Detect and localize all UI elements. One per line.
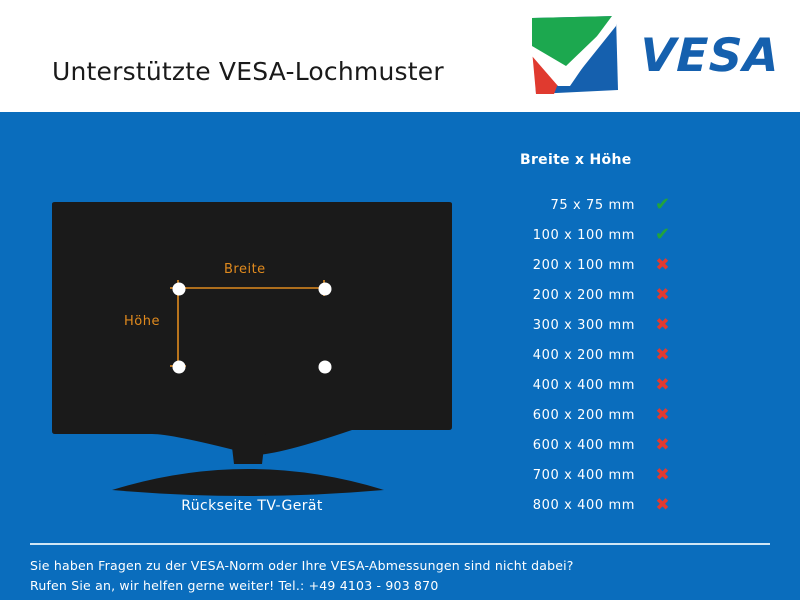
- pattern-size-label: 600 x 400 mm: [500, 438, 635, 453]
- vesa-pattern-table: Breite x Höhe 75 x 75 mm✔100 x 100 mm✔20…: [500, 152, 700, 520]
- tv-neck: [230, 430, 266, 464]
- cross-icon: ✖: [635, 316, 690, 334]
- mounting-hole-bottom-left: [173, 361, 186, 374]
- content-panel: Breite Höhe Rückseite TV-Gerät Breite x …: [0, 112, 800, 600]
- pattern-size-label: 600 x 200 mm: [500, 408, 635, 423]
- footer-line-2: Rufen Sie an, wir helfen gerne weiter! T…: [30, 576, 770, 596]
- table-row: 600 x 400 mm✖: [500, 430, 700, 460]
- pattern-size-label: 800 x 400 mm: [500, 498, 635, 513]
- table-row: 800 x 400 mm✖: [500, 490, 700, 520]
- cross-icon: ✖: [635, 256, 690, 274]
- check-icon: ✔: [635, 196, 690, 214]
- table-row: 400 x 200 mm✖: [500, 340, 700, 370]
- table-row: 300 x 300 mm✖: [500, 310, 700, 340]
- tv-body: [52, 202, 452, 455]
- tv-stand-base: [112, 469, 384, 496]
- footer-contact-text: Sie haben Fragen zu der VESA-Norm oder I…: [30, 556, 770, 596]
- tv-back-diagram: [52, 202, 452, 392]
- page-title: Unterstützte VESA-Lochmuster: [52, 57, 444, 86]
- mounting-hole-bottom-right: [319, 361, 332, 374]
- pattern-size-label: 300 x 300 mm: [500, 318, 635, 333]
- mounting-hole-top-right: [319, 283, 332, 296]
- mounting-hole-top-left: [173, 283, 186, 296]
- pattern-size-label: 200 x 200 mm: [500, 288, 635, 303]
- pattern-size-label: 75 x 75 mm: [500, 198, 635, 213]
- pattern-size-label: 200 x 100 mm: [500, 258, 635, 273]
- dimension-label-height: Höhe: [124, 314, 160, 329]
- table-row: 200 x 200 mm✖: [500, 280, 700, 310]
- pattern-size-label: 400 x 400 mm: [500, 378, 635, 393]
- pattern-size-label: 400 x 200 mm: [500, 348, 635, 363]
- cross-icon: ✖: [635, 286, 690, 304]
- vesa-logo-mark: [530, 16, 618, 94]
- cross-icon: ✖: [635, 346, 690, 364]
- vesa-wordmark: VESA: [639, 30, 781, 80]
- footer-line-1: Sie haben Fragen zu der VESA-Norm oder I…: [30, 556, 770, 576]
- tv-diagram-caption: Rückseite TV-Gerät: [52, 498, 452, 514]
- table-row: 700 x 400 mm✖: [500, 460, 700, 490]
- table-row: 100 x 100 mm✔: [500, 220, 700, 250]
- cross-icon: ✖: [635, 436, 690, 454]
- check-icon: ✔: [635, 226, 690, 244]
- table-row: 400 x 400 mm✖: [500, 370, 700, 400]
- footer-divider: [30, 543, 770, 545]
- cross-icon: ✖: [635, 376, 690, 394]
- header-bar: Unterstützte VESA-Lochmuster VESA: [0, 0, 800, 112]
- pattern-size-label: 700 x 400 mm: [500, 468, 635, 483]
- table-row: 200 x 100 mm✖: [500, 250, 700, 280]
- table-header: Breite x Höhe: [500, 152, 700, 168]
- pattern-size-label: 100 x 100 mm: [500, 228, 635, 243]
- cross-icon: ✖: [635, 496, 690, 514]
- table-row: 75 x 75 mm✔: [500, 190, 700, 220]
- cross-icon: ✖: [635, 466, 690, 484]
- cross-icon: ✖: [635, 406, 690, 424]
- vesa-logo: VESA: [530, 16, 785, 96]
- table-row: 600 x 200 mm✖: [500, 400, 700, 430]
- dimension-label-width: Breite: [224, 262, 266, 277]
- vesa-info-graphic: Unterstützte VESA-Lochmuster VESA: [0, 0, 800, 600]
- table-body: 75 x 75 mm✔100 x 100 mm✔200 x 100 mm✖200…: [500, 190, 700, 520]
